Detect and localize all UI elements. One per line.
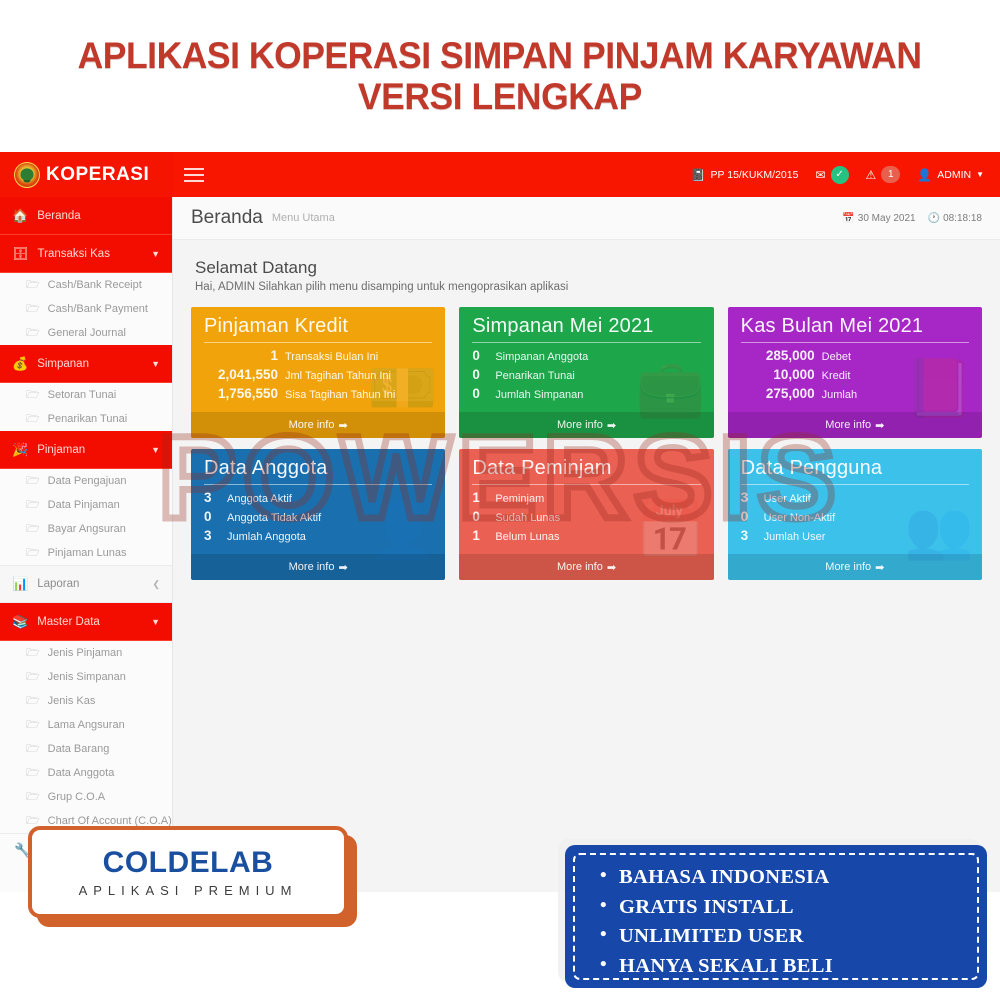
stat-label: User Aktif [764,493,811,505]
date-text: 30 May 2021 [858,213,916,224]
chevron-down-icon: ▼ [151,445,160,455]
sidebar-label: Beranda [37,210,80,222]
folder-icon: 🗁 [26,544,40,563]
stat-label: User Non-Aktif [764,512,836,524]
promo-poster: APLIKASI KOPERASI SIMPAN PINJAM KARYAWAN… [0,0,1000,1000]
stat-value: 10,000 [741,367,815,382]
stat-value: 3 [741,490,757,505]
sidebar-sublabel: Penarikan Tunai [48,413,128,425]
feature-list-box: BAHASA INDONESIA GRATIS INSTALL UNLIMITE… [565,845,987,988]
card-stat: 3Jumlah User [741,528,969,543]
regulation-text: PP 15/KUKM/2015 [711,169,799,181]
card-title: Pinjaman Kredit [204,315,432,338]
chevron-down-icon: ▼ [151,249,160,259]
envelope-icon: ✉ [815,169,825,181]
card-stat: 0User Non-Aktif [741,509,969,524]
card-stat: 3User Aktif [741,490,969,505]
sidebar-sublabel: Jenis Simpanan [48,671,126,683]
sidebar-label: Master Data [37,616,100,628]
user-label: ADMIN [937,169,971,181]
stat-value: 3 [741,528,757,543]
stat-value: 1 [472,490,488,505]
stat-value: 0 [472,348,488,363]
dashboard-cards: Pinjaman Kredit 1Transaksi Bulan Ini 2,0… [173,293,1000,580]
sidebar-subitem[interactable]: 🗁Jenis Kas [0,689,172,713]
sidebar-sublabel: Lama Angsuran [48,719,125,731]
stat-value: 3 [204,528,220,543]
more-label: More info [825,419,871,431]
stat-label: Sisa Tagihan Tahun Ini [285,389,395,401]
chevron-down-icon: ▼ [976,170,984,179]
arrow-circle-right-icon: ➡ [875,561,884,574]
home-icon: 🏠 [12,208,28,224]
warning-triangle-icon: ⚠ [866,169,877,181]
more-label: More info [289,419,335,431]
page-title: Beranda [191,207,263,229]
card-stat: 10,000Kredit [741,367,969,382]
welcome-title: Selamat Datang [195,258,978,278]
folder-icon: 🗁 [26,410,40,429]
navbar-right-group: 📓 PP 15/KUKM/2015 ✉ ✓ ⚠ 1 👤 ADMIN ▼ [691,152,1000,197]
hamburger-icon[interactable] [173,152,215,197]
stat-value: 0 [204,509,220,524]
arrow-circle-right-icon: ➡ [607,419,616,432]
card-stat: 3Jumlah Anggota [204,528,432,543]
stat-label: Jumlah [822,389,857,401]
stat-label: Jumlah User [764,531,826,543]
feature-list: BAHASA INDONESIA GRATIS INSTALL UNLIMITE… [573,853,979,980]
cash-register-icon: 🗄 [12,246,29,262]
regulation-label: 📓 PP 15/KUKM/2015 [691,169,799,181]
stat-value: 2,041,550 [204,367,278,382]
stat-label: Anggota Aktif [227,493,292,505]
card-stat: 3Anggota Aktif [204,490,432,505]
check-circle-icon: ✓ [831,166,849,184]
coldelab-name: COLDELAB [103,846,274,880]
card-data-pengguna[interactable]: Data Pengguna 3User Aktif 0User Non-Akti… [728,449,982,580]
sidebar-sublabel: Cash/Bank Payment [48,303,148,315]
more-label: More info [825,561,871,573]
folder-icon: 🗁 [26,386,40,405]
application-window: KOPERASI 📓 PP 15/KUKM/2015 ✉ ✓ ⚠ 1 [0,152,1000,892]
sidebar-label: Transaksi Kas [38,248,110,260]
messages-button[interactable]: ✉ ✓ [815,166,848,184]
welcome-block: Selamat Datang Hai, ADMIN Silahkan pilih… [173,240,1000,293]
card-stat: 275,000Jumlah [741,386,969,401]
stat-label: Belum Lunas [495,531,559,543]
sidebar-sublabel: Pinjaman Lunas [48,547,127,559]
sidebar-sublabel: Grup C.O.A [48,791,105,803]
stat-value: 0 [741,509,757,524]
sidebar-sublabel: Data Pinjaman [48,499,120,511]
money-bag-icon: 💰 [12,356,28,372]
card-title: Data Pengguna [741,457,969,480]
alert-count-badge: 1 [881,166,900,183]
time-display: 🕐 08:18:18 [928,213,982,224]
stat-value: 3 [204,490,220,505]
folder-icon: 🗁 [26,692,40,711]
arrow-circle-right-icon: ➡ [875,419,884,432]
user-menu[interactable]: 👤 ADMIN ▼ [917,169,984,181]
sidebar-sublabel: Setoran Tunai [48,389,117,401]
coldelab-logo-card: COLDELAB APLIKASI PREMIUM [28,826,348,918]
alerts-button[interactable]: ⚠ 1 [866,166,901,183]
sidebar-sublabel: Cash/Bank Receipt [48,279,142,291]
card-title: Simpanan Mei 2021 [472,315,700,338]
card-data-peminjam[interactable]: Data Peminjam 1Peminjam 0Sudah Lunas 1Be… [459,449,713,580]
time-text: 08:18:18 [943,213,982,224]
card-title: Data Peminjam [472,457,700,480]
sidebar-sublabel: Data Pengajuan [48,475,127,487]
stat-label: Jumlah Anggota [227,531,306,543]
card-stat: 0Jumlah Simpanan [472,386,700,401]
sidebar-subitem[interactable]: 🗁Data Anggota [0,761,172,785]
sidebar-sublabel: Jenis Kas [48,695,96,707]
stat-value: 1,756,550 [204,386,278,401]
card-stat: 1Belum Lunas [472,528,700,543]
sidebar-item-beranda[interactable]: 🏠 Beranda [0,197,172,235]
stat-label: Kredit [822,370,851,382]
feature-item: BAHASA INDONESIA [619,863,977,893]
card-stat: 0Penarikan Tunai [472,367,700,382]
sidebar-label: Simpanan [37,358,89,370]
page-header-meta: 📅 30 May 2021 🕐 08:18:18 [842,213,982,224]
stat-label: Jml Tagihan Tahun Ini [285,370,391,382]
folder-icon: 🗁 [26,788,40,807]
card-title: Kas Bulan Mei 2021 [741,315,969,338]
card-stat: 0Sudah Lunas [472,509,700,524]
card-stat: 0Simpanan Anggota [472,348,700,363]
folder-icon: 🗁 [26,740,40,759]
sidebar-subitem[interactable]: 🗁Data Pengajuan [0,469,172,493]
sidebar-subitem[interactable]: 🗁Bayar Angsuran [0,517,172,541]
stat-value: 0 [472,367,488,382]
folder-icon: 🗁 [26,716,40,735]
folder-icon: 🗁 [26,472,40,491]
stat-label: Peminjam [495,493,544,505]
sidebar-subitem[interactable]: 🗁Cash/Bank Payment [0,297,172,321]
arrow-circle-right-icon: ➡ [338,419,347,432]
top-navbar: KOPERASI 📓 PP 15/KUKM/2015 ✉ ✓ ⚠ 1 [0,152,1000,197]
card-more-link[interactable]: More info➡ [191,554,445,580]
card-more-link[interactable]: More info➡ [459,412,713,438]
stat-value: 285,000 [741,348,815,363]
feature-item: HANYA SEKALI BELI [619,952,977,982]
more-label: More info [289,561,335,573]
card-kas-bulan[interactable]: Kas Bulan Mei 2021 285,000Debet 10,000Kr… [728,307,982,438]
stat-value: 0 [472,509,488,524]
folder-icon: 🗁 [26,520,40,539]
book-icon: 📓 [691,169,706,181]
stat-label: Penarikan Tunai [495,370,575,382]
card-more-link[interactable]: More info➡ [459,554,713,580]
card-more-link[interactable]: More info➡ [728,554,982,580]
report-icon: 📊 [12,576,28,592]
folder-icon: 🗁 [26,644,40,663]
sidebar-subitem[interactable]: 🗁Pinjaman Lunas [0,541,172,565]
stat-value: 275,000 [741,386,815,401]
sidebar-subitem[interactable]: 🗁Data Pinjaman [0,493,172,517]
card-more-link[interactable]: More info➡ [728,412,982,438]
stat-label: Anggota Tidak Aktif [227,512,321,524]
headline-line-1: APLIKASI KOPERASI SIMPAN PINJAM KARYAWAN [78,35,922,76]
folder-icon: 🗁 [26,300,40,319]
sidebar-sublabel: Data Barang [48,743,110,755]
arrow-circle-right-icon: ➡ [338,561,347,574]
promo-headline: APLIKASI KOPERASI SIMPAN PINJAM KARYAWAN… [0,0,1000,152]
sidebar-sublabel: General Journal [48,327,126,339]
feature-item: UNLIMITED USER [619,922,977,952]
stat-value: 0 [472,386,488,401]
brand-title: KOPERASI [46,164,149,186]
sidebar-subitem[interactable]: 🗁Jenis Simpanan [0,665,172,689]
headline-line-2: VERSI LENGKAP [358,76,642,117]
sidebar-subitem[interactable]: 🗁General Journal [0,321,172,345]
card-stat: 1Peminjam [472,490,700,505]
sidebar-subitem[interactable]: 🗁Setoran Tunai [0,383,172,407]
card-stat: 0Anggota Tidak Aktif [204,509,432,524]
folder-icon: 🗁 [26,276,40,295]
chevron-left-icon: ❮ [152,579,160,590]
sidebar-label: Laporan [37,578,79,590]
sidebar-subitem[interactable]: 🗁Grup C.O.A [0,785,172,809]
more-label: More info [557,419,603,431]
coldelab-tagline: APLIKASI PREMIUM [79,883,298,898]
main-content: Beranda Menu Utama 📅 30 May 2021 🕐 08:18… [173,197,1000,892]
card-more-link[interactable]: More info➡ [191,412,445,438]
folder-icon: 🗁 [26,764,40,783]
chevron-down-icon: ▼ [151,617,160,627]
sidebar-subitem[interactable]: 🗁Lama Angsuran [0,713,172,737]
handshake-icon: 🎉 [12,442,28,458]
sidebar-nav: 🏠 Beranda 🗄 Transaksi Kas ▼ 🗁Cash/Bank R… [0,197,173,892]
more-label: More info [557,561,603,573]
sidebar-item-transaksi-kas[interactable]: 🗄 Transaksi Kas ▼ [0,235,172,273]
clock-icon: 🕐 [928,213,940,224]
sidebar-sublabel: Jenis Pinjaman [48,647,123,659]
sidebar-subitem[interactable]: 🗁Data Barang [0,737,172,761]
card-stat: 2,041,550Jml Tagihan Tahun Ini [204,367,432,382]
sidebar-subitem[interactable]: 🗁Penarikan Tunai [0,407,172,431]
sidebar-item-laporan[interactable]: 📊 Laporan ❮ [0,565,172,603]
user-icon: 👤 [917,169,932,181]
stat-label: Jumlah Simpanan [495,389,583,401]
feature-item: GRATIS INSTALL [619,893,977,923]
page-subtitle: Menu Utama [272,212,335,224]
sidebar-item-pinjaman[interactable]: 🎉 Pinjaman ▼ [0,431,172,469]
folder-icon: 🗁 [26,324,40,343]
card-stat: 1Transaksi Bulan Ini [204,348,432,363]
sidebar-item-simpanan[interactable]: 💰 Simpanan ▼ [0,345,172,383]
welcome-message: Hai, ADMIN Silahkan pilih menu disamping… [195,281,978,293]
brand-logo[interactable]: KOPERASI [0,152,173,197]
sidebar-sublabel: Bayar Angsuran [48,523,126,535]
card-simpanan[interactable]: Simpanan Mei 2021 0Simpanan Anggota 0Pen… [459,307,713,438]
calendar-icon: 📅 [842,213,854,224]
card-stat: 1,756,550Sisa Tagihan Tahun Ini [204,386,432,401]
stat-label: Simpanan Anggota [495,351,588,363]
sidebar-subitem[interactable]: 🗁Jenis Pinjaman [0,641,172,665]
date-display: 📅 30 May 2021 [842,213,915,224]
sidebar-sublabel: Data Anggota [48,767,115,779]
card-stat: 285,000Debet [741,348,969,363]
stat-label: Sudah Lunas [495,512,560,524]
stat-value: 1 [472,528,488,543]
stat-label: Transaksi Bulan Ini [285,351,378,363]
card-pinjaman-kredit[interactable]: Pinjaman Kredit 1Transaksi Bulan Ini 2,0… [191,307,445,438]
folder-icon: 🗁 [26,668,40,687]
stat-value: 1 [204,348,278,363]
database-icon: 📚 [12,614,28,630]
sidebar-subitem[interactable]: 🗁Cash/Bank Receipt [0,273,172,297]
stat-label: Debet [822,351,851,363]
koperasi-emblem-icon [14,162,40,188]
card-title: Data Anggota [204,457,432,480]
folder-icon: 🗁 [26,496,40,515]
page-header: Beranda Menu Utama 📅 30 May 2021 🕐 08:18… [173,197,1000,240]
card-data-anggota[interactable]: Data Anggota 3Anggota Aktif 0Anggota Tid… [191,449,445,580]
chevron-down-icon: ▼ [151,359,160,369]
arrow-circle-right-icon: ➡ [607,561,616,574]
sidebar-label: Pinjaman [37,444,85,456]
sidebar-item-master-data[interactable]: 📚 Master Data ▼ [0,603,172,641]
